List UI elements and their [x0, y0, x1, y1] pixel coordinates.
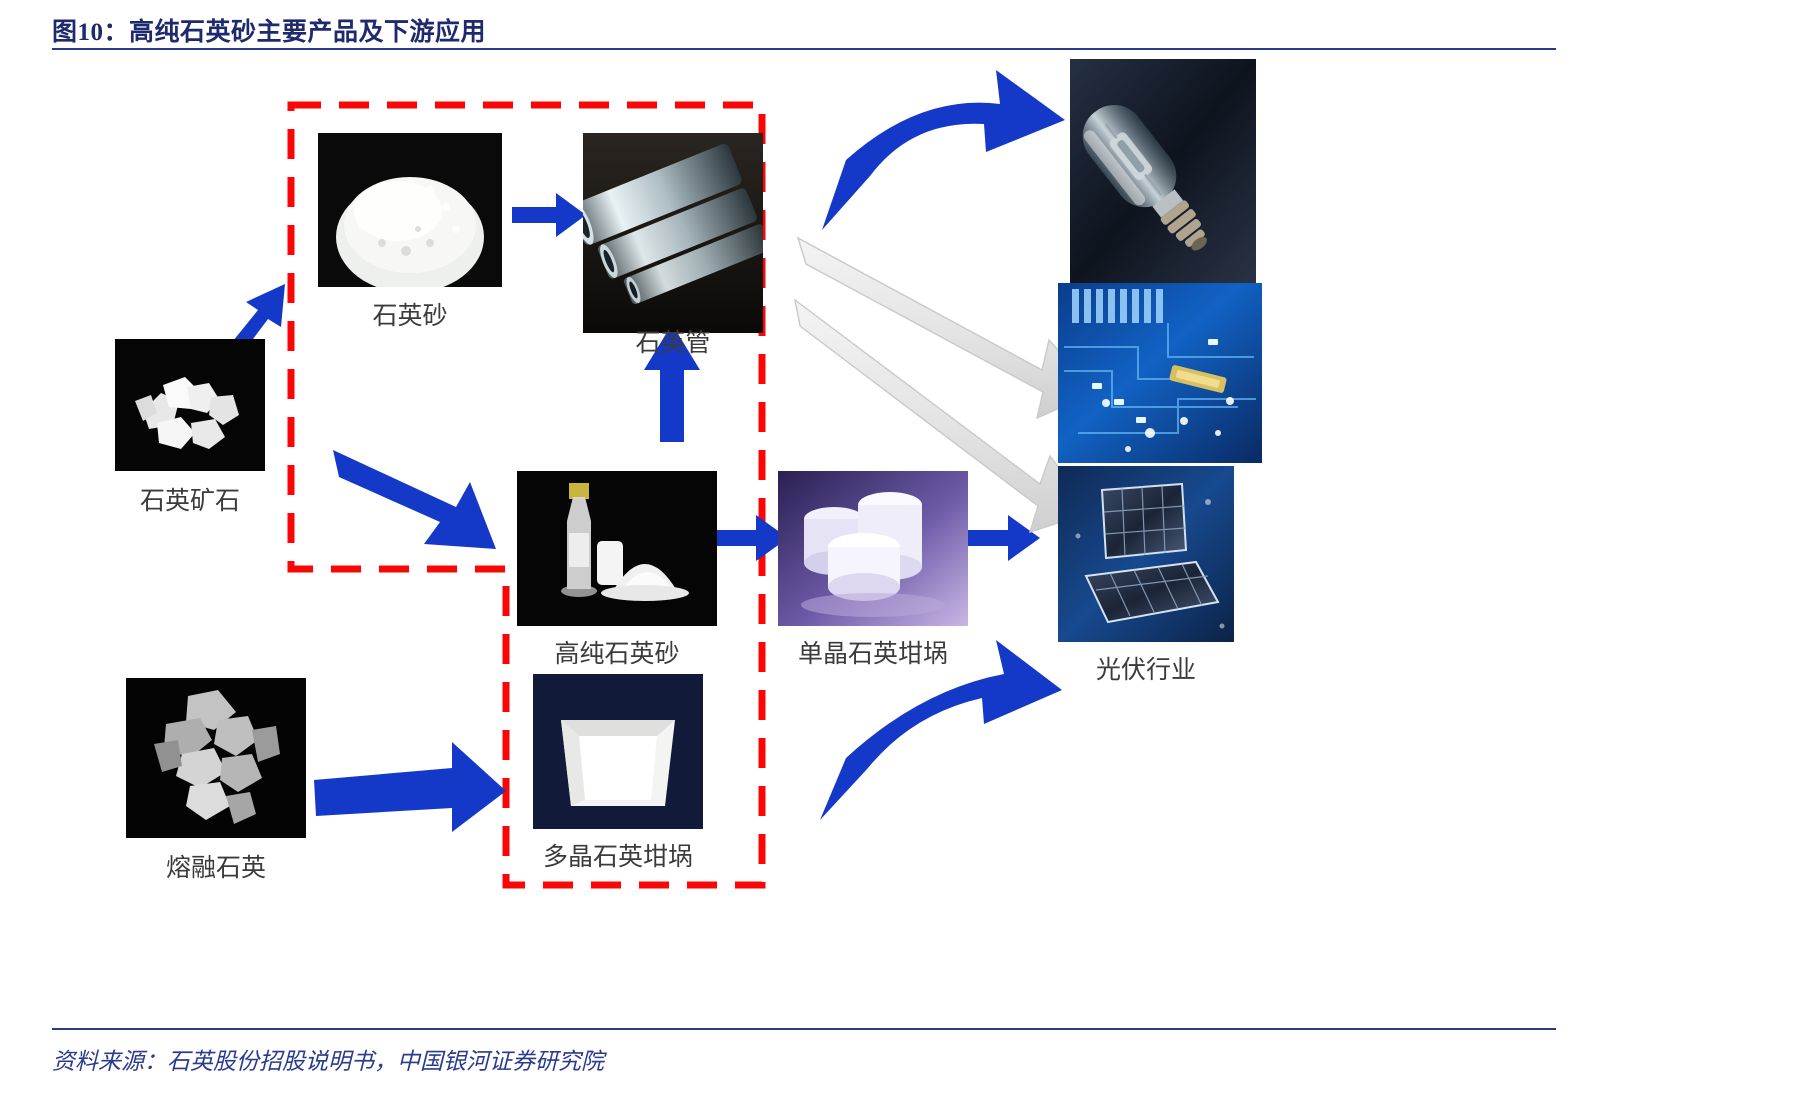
diagram-canvas: 石英矿石 熔融石英 [0, 52, 1816, 1024]
node-quartz-sand-label: 石英砂 [372, 296, 447, 332]
fused-quartz-image [126, 678, 306, 838]
node-hp-quartz-sand-label: 高纯石英砂 [554, 634, 679, 670]
arrow-tube-to-lighting [822, 70, 1065, 230]
node-photovoltaic: 光伏行业 [1058, 466, 1234, 642]
node-poly-crucible-label: 多晶石英坩埚 [543, 837, 693, 873]
node-mono-crucible: 单晶石英坩埚 [778, 471, 968, 626]
quartz-ore-image [115, 339, 265, 471]
node-quartz-ore: 石英矿石 [115, 339, 265, 471]
arrow-fused-to-poly [314, 742, 506, 832]
node-photovoltaic-label: 光伏行业 [1096, 650, 1196, 686]
node-poly-crucible: 多晶石英坩埚 [533, 674, 703, 829]
node-mono-crucible-label: 单晶石英坩埚 [798, 634, 948, 670]
figure-source: 资料来源：石英股份招股说明书，中国银河证券研究院 [52, 1042, 604, 1076]
node-quartz-tube-label: 石英管 [635, 323, 710, 359]
quartz-sand-image [318, 133, 502, 287]
quartz-tube-image [583, 133, 763, 333]
semiconductor-image [1058, 283, 1262, 463]
node-semiconductor: 半导体行业 [1058, 283, 1262, 463]
node-quartz-sand: 石英砂 [318, 133, 502, 287]
node-hp-quartz-sand: 高纯石英砂 [517, 471, 717, 626]
arrow-ore-to-hp-sand [333, 450, 496, 549]
node-quartz-tube: 石英管 [583, 133, 763, 333]
mono-crucible-image [778, 471, 968, 626]
node-fused-quartz: 熔融石英 [126, 678, 306, 838]
figure-title: 图10：高纯石英砂主要产品及下游应用 [52, 12, 486, 48]
node-lighting: 照明行业 [1070, 59, 1256, 287]
title-divider [52, 48, 1556, 50]
arrow-sand-to-tube [512, 193, 586, 237]
node-quartz-ore-label: 石英矿石 [140, 481, 240, 517]
poly-crucible-image [533, 674, 703, 829]
arrow-mono-to-pv [968, 515, 1040, 561]
arrow-tube-to-semiconductor-upper [798, 238, 1096, 418]
hp-quartz-sand-image [517, 471, 717, 626]
lighting-image [1070, 59, 1256, 287]
source-divider [52, 1028, 1556, 1030]
node-fused-quartz-label: 熔融石英 [166, 848, 266, 884]
photovoltaic-image [1058, 466, 1234, 642]
